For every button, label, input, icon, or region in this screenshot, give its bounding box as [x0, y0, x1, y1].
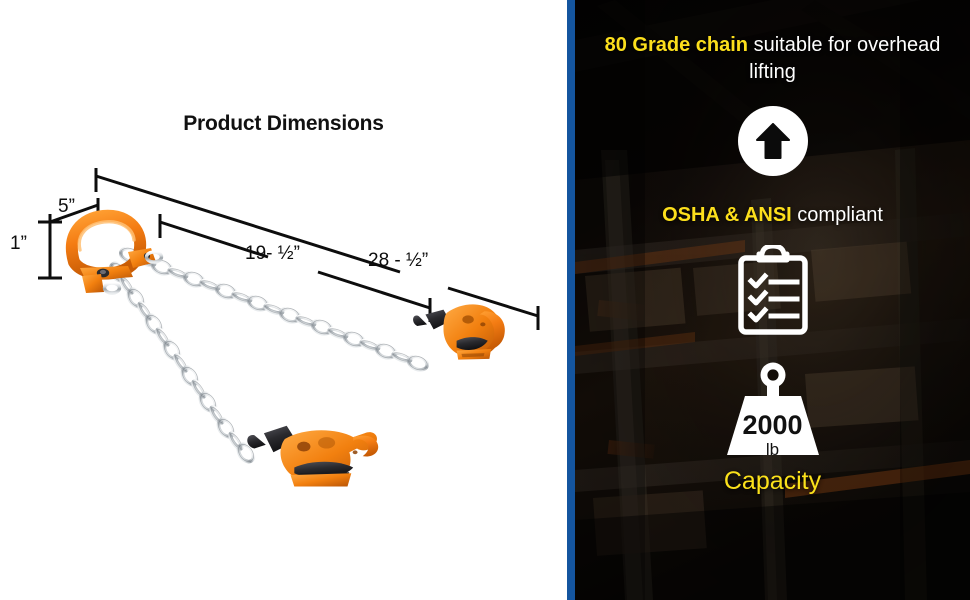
capacity-label: Capacity [724, 467, 821, 496]
dimension-label-28-half-in: 28 - ½” [368, 250, 428, 272]
dimension-label-5in: 5” [58, 196, 75, 218]
capacity-weight-icon: 2000 lb [715, 362, 831, 463]
orange-drum-clamp-lower [247, 426, 378, 487]
features-panel: 80 Grade chain suitable for overhead lif… [575, 0, 970, 600]
up-arrow-circle-icon [738, 106, 808, 176]
feature-heading-overhead-lifting: 80 Grade chain suitable for overhead lif… [603, 32, 943, 86]
feature-rest-grade: suitable for overhead lifting [748, 34, 940, 83]
dimension-label-1in: 1” [10, 233, 27, 255]
clipboard-checklist-icon [735, 245, 811, 342]
feature-heading-osha-ansi: OSHA & ANSI compliant [662, 202, 883, 229]
feature-highlight-grade: 80 Grade chain [605, 34, 748, 56]
panel-divider [567, 0, 575, 600]
infographic-page: Product Dimensions [0, 0, 970, 600]
dimension-label-19-half-in: 19- ½” [245, 243, 300, 265]
orange-drum-clamp-upper [413, 304, 505, 359]
product-dimensions-panel: Product Dimensions [0, 0, 567, 600]
feature-highlight-osha: OSHA & ANSI [662, 204, 792, 226]
product-illustration [0, 0, 567, 600]
feature-rest-osha: compliant [792, 204, 883, 226]
